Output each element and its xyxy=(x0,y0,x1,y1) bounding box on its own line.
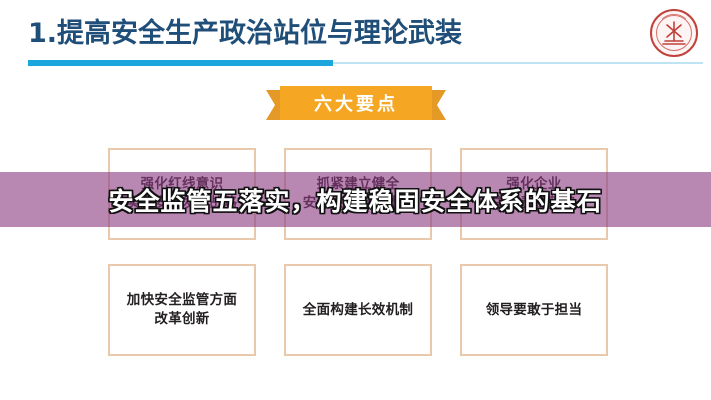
point-box-5-line1: 全面构建长效机制 xyxy=(303,302,413,318)
point-box-6: 领导要敢于担当 xyxy=(460,264,608,356)
point-box-6-line1: 领导要敢于担当 xyxy=(486,302,583,318)
page-title: 1.提高安全生产政治站位与理论武装 xyxy=(28,17,462,51)
point-box-6-text: 领导要敢于担当 xyxy=(482,301,587,320)
six-points-ribbon: 六大要点 xyxy=(266,86,446,120)
point-box-4-text: 加快安全监管方面 改革创新 xyxy=(123,291,241,329)
slide-header: 1.提高安全生产政治站位与理论武装 xyxy=(0,0,711,72)
point-box-5: 全面构建长效机制 xyxy=(284,264,432,356)
ribbon-label: 六大要点 xyxy=(314,90,398,116)
point-box-4-line1: 加快安全监管方面 xyxy=(127,292,237,308)
point-box-4: 加快安全监管方面 改革创新 xyxy=(108,264,256,356)
slide-canvas: 1.提高安全生产政治站位与理论武装 六大要点 强化红线意识 xyxy=(0,0,711,400)
caption-headline: 安全监管五落实，构建稳固安全体系的基石 xyxy=(0,172,711,227)
title-underline-thick xyxy=(28,60,333,66)
organization-seal-icon xyxy=(650,9,698,57)
point-box-4-line2: 改革创新 xyxy=(154,311,209,327)
ribbon-body: 六大要点 xyxy=(280,86,432,120)
point-box-5-text: 全面构建长效机制 xyxy=(299,301,417,320)
